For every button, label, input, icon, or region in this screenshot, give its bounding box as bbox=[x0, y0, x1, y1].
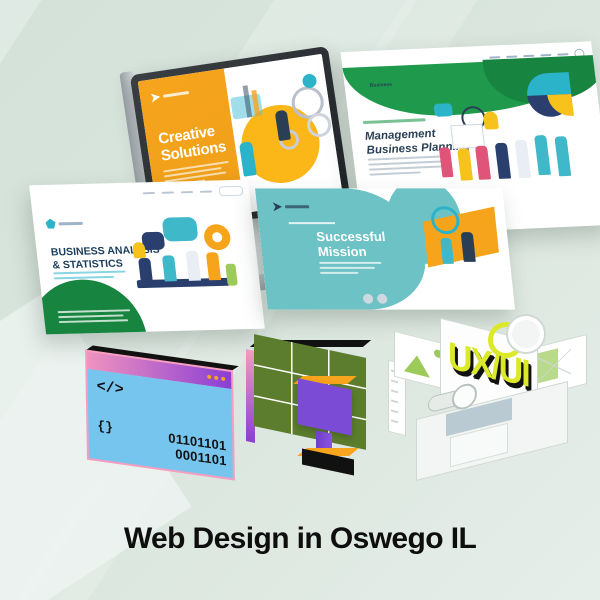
creative-title: Creative Solutions bbox=[157, 121, 227, 165]
play-mark-icon bbox=[356, 81, 367, 91]
mission-logo bbox=[272, 202, 309, 211]
curly-brace-icon: {} bbox=[97, 418, 113, 435]
mission-body-text bbox=[319, 262, 383, 277]
lightbulb-icon bbox=[132, 242, 146, 258]
code-window-illustration: </> {} 01101101 0001101 bbox=[85, 349, 235, 480]
mission-title-line2: Mission bbox=[317, 245, 388, 260]
accent-dot bbox=[302, 73, 318, 89]
eyebrow-rule bbox=[363, 118, 425, 124]
gear-icon bbox=[508, 316, 544, 352]
logo-wordmark: Business bbox=[369, 82, 392, 89]
window-dot-icon bbox=[207, 375, 211, 380]
brand-mark-icon bbox=[45, 219, 56, 229]
green-blob-shape bbox=[29, 278, 150, 334]
window-dot-icon bbox=[214, 376, 218, 381]
management-body-text bbox=[368, 155, 451, 178]
business-analysis-mockup: BUSINESS ANALYSIS & STATISTICS bbox=[29, 180, 265, 335]
window-controls bbox=[207, 375, 225, 382]
window-dot-icon bbox=[221, 377, 225, 382]
nav-item bbox=[162, 192, 174, 194]
chat-bubble-icon bbox=[433, 103, 453, 117]
play-mark-icon bbox=[272, 202, 282, 211]
mockup-navigation bbox=[142, 186, 243, 199]
person-figure bbox=[138, 258, 153, 282]
code-tag-icon: </> bbox=[97, 378, 124, 399]
nav-item bbox=[181, 191, 193, 193]
play-mark-icon bbox=[151, 92, 161, 102]
person-figure bbox=[162, 255, 177, 281]
ba-footer-text bbox=[58, 309, 132, 326]
lightbulb-icon bbox=[483, 111, 499, 129]
logo-wordmark bbox=[163, 91, 189, 98]
search-field bbox=[218, 186, 243, 197]
person-figure bbox=[554, 136, 571, 176]
page-title: Web Design in Oswego IL bbox=[0, 522, 600, 556]
mission-title: Successful Mission bbox=[316, 230, 388, 260]
business-analysis-logo bbox=[45, 218, 83, 229]
person-figure bbox=[534, 135, 551, 175]
person-figure bbox=[475, 146, 491, 180]
management-logo: Business bbox=[356, 80, 393, 91]
creative-logo bbox=[151, 88, 190, 103]
person-figure bbox=[186, 251, 201, 281]
mission-title-line1: Successful bbox=[316, 230, 387, 245]
decorative-dot bbox=[363, 294, 374, 304]
title-rule bbox=[289, 222, 335, 224]
person-figure bbox=[495, 143, 511, 179]
logo-wordmark bbox=[58, 221, 82, 225]
plant-icon bbox=[225, 264, 238, 286]
person-figure bbox=[515, 140, 532, 178]
decorative-dot bbox=[377, 294, 388, 304]
nav-item bbox=[200, 191, 212, 193]
nav-item bbox=[143, 192, 155, 194]
logo-wordmark bbox=[285, 205, 309, 208]
isometric-monitor-illustration bbox=[246, 340, 396, 485]
chat-bubble-icon bbox=[162, 217, 199, 242]
uxui-laptop-illustration: UX/UI bbox=[392, 318, 587, 488]
poster-canvas: Creative Solutions bbox=[0, 0, 600, 600]
successful-mission-mockup: Successful Mission bbox=[255, 188, 515, 309]
gear-hole bbox=[212, 232, 223, 242]
binary-text: 01101101 0001101 bbox=[168, 431, 227, 469]
person-figure bbox=[206, 252, 221, 280]
mountain-shape bbox=[404, 352, 430, 377]
